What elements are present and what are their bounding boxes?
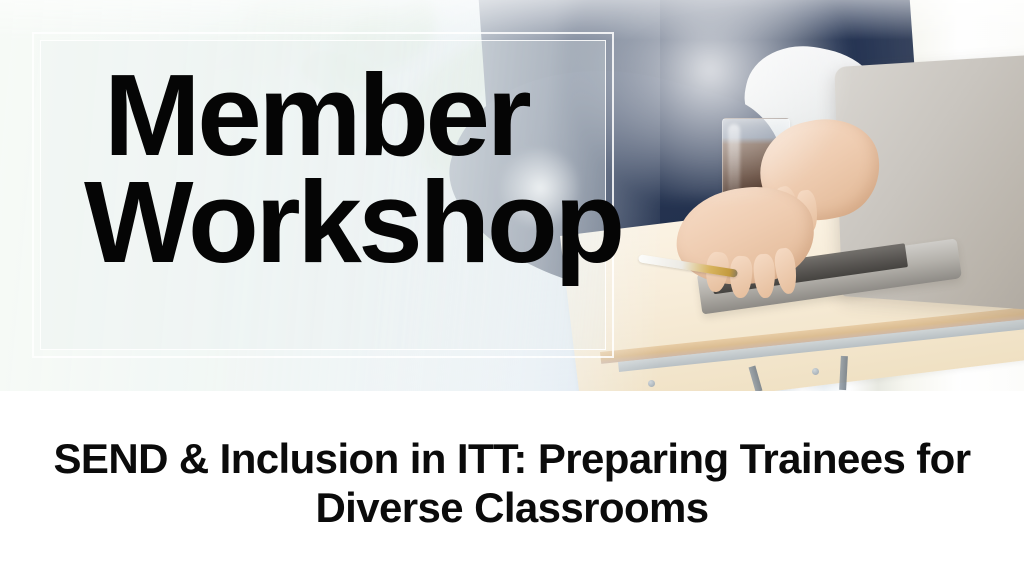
headline-region: SEND & Inclusion in ITT: Preparing Train…	[0, 391, 1024, 576]
banner-photo-region: MemberWorkshop	[0, 0, 1024, 391]
desk-screw	[812, 368, 819, 375]
banner-title: MemberWorkshop	[84, 62, 624, 275]
banner-title-line-2: Workshop	[84, 169, 624, 276]
banner-title-line-1: Member	[104, 62, 624, 169]
session-headline: SEND & Inclusion in ITT: Preparing Train…	[12, 435, 1012, 532]
slide-canvas: MemberWorkshop SEND & Inclusion in ITT: …	[0, 0, 1024, 576]
